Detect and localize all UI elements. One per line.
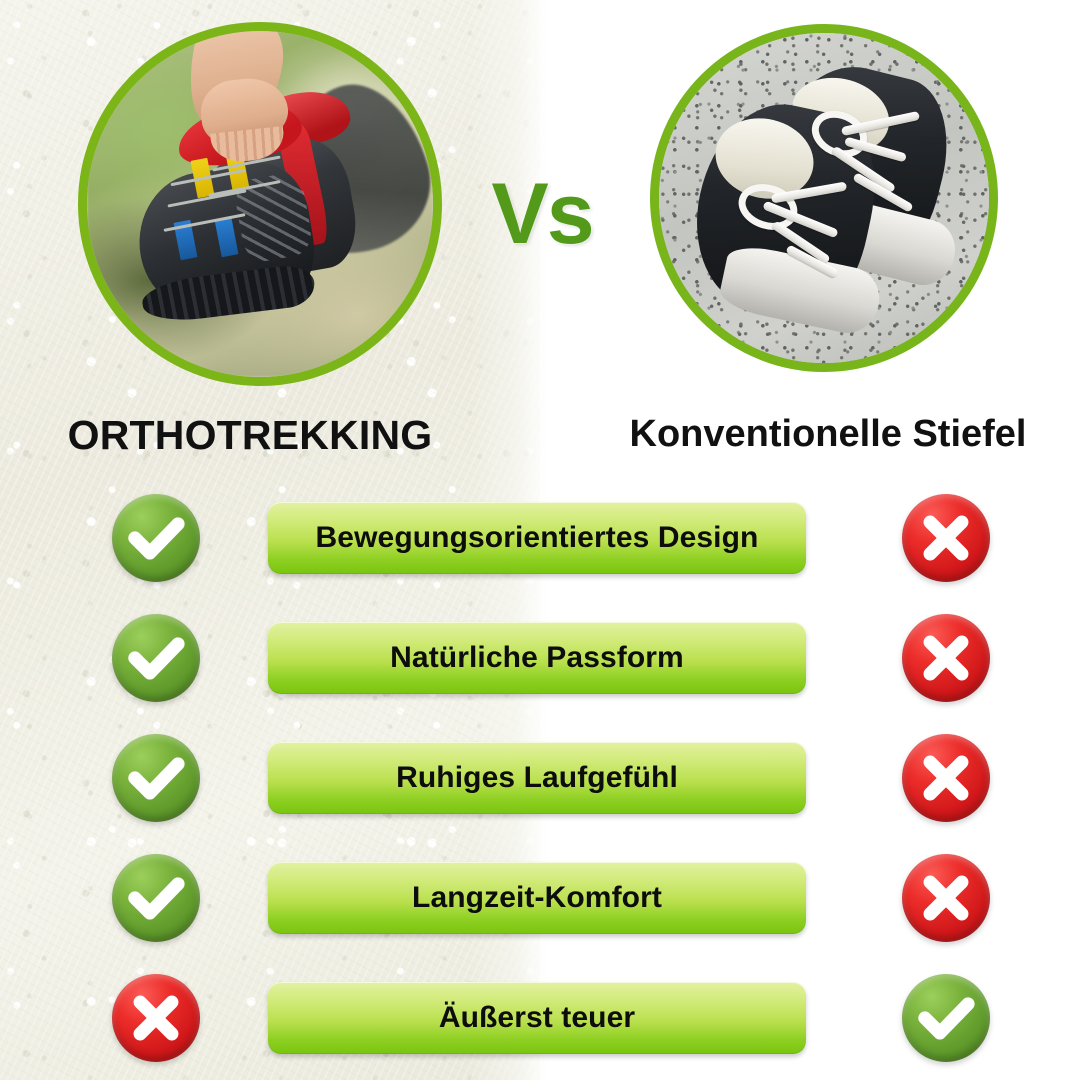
feature-label: Ruhiges Laufgefühl: [396, 761, 678, 795]
feature-pill: Bewegungsorientiertes Design: [268, 502, 806, 574]
canvas-sneakers-photo: [659, 33, 989, 363]
comparison-row: Ruhiges Laufgefühl: [0, 718, 1080, 838]
check-icon: [112, 494, 200, 582]
feature-pill: Ruhiges Laufgefühl: [268, 742, 806, 814]
product-image-orthotrekking: [78, 22, 442, 386]
column-title-left: ORTHOTREKKING: [0, 415, 500, 456]
feature-pill: Natürliche Passform: [268, 622, 806, 694]
feature-label: Bewegungsorientiertes Design: [316, 521, 759, 555]
check-icon: [112, 614, 200, 702]
feature-label: Langzeit-Komfort: [412, 881, 662, 915]
comparison-rows: Bewegungsorientiertes Design Natürliche …: [0, 478, 1080, 1078]
comparison-infographic: Vs ORTHOTREKKING Konventionelle Stiefel: [0, 0, 1080, 1080]
product-image-conventional: [650, 24, 998, 372]
cross-icon: [902, 614, 990, 702]
vs-label: Vs: [487, 159, 597, 269]
cross-icon: [112, 974, 200, 1062]
comparison-row: Bewegungsorientiertes Design: [0, 478, 1080, 598]
comparison-row: Langzeit-Komfort: [0, 838, 1080, 958]
cross-icon: [902, 494, 990, 582]
trail-shoes-photo: [87, 31, 433, 377]
feature-pill: Äußerst teuer: [268, 982, 806, 1054]
check-icon: [112, 854, 200, 942]
feature-label: Natürliche Passform: [390, 641, 684, 675]
comparison-row: Natürliche Passform: [0, 598, 1080, 718]
check-icon: [112, 734, 200, 822]
cross-icon: [902, 854, 990, 942]
feature-label: Äußerst teuer: [439, 1001, 635, 1035]
check-icon: [902, 974, 990, 1062]
feature-pill: Langzeit-Komfort: [268, 862, 806, 934]
column-title-right: Konventionelle Stiefel: [578, 415, 1078, 453]
comparison-row: Äußerst teuer: [0, 958, 1080, 1078]
cross-icon: [902, 734, 990, 822]
